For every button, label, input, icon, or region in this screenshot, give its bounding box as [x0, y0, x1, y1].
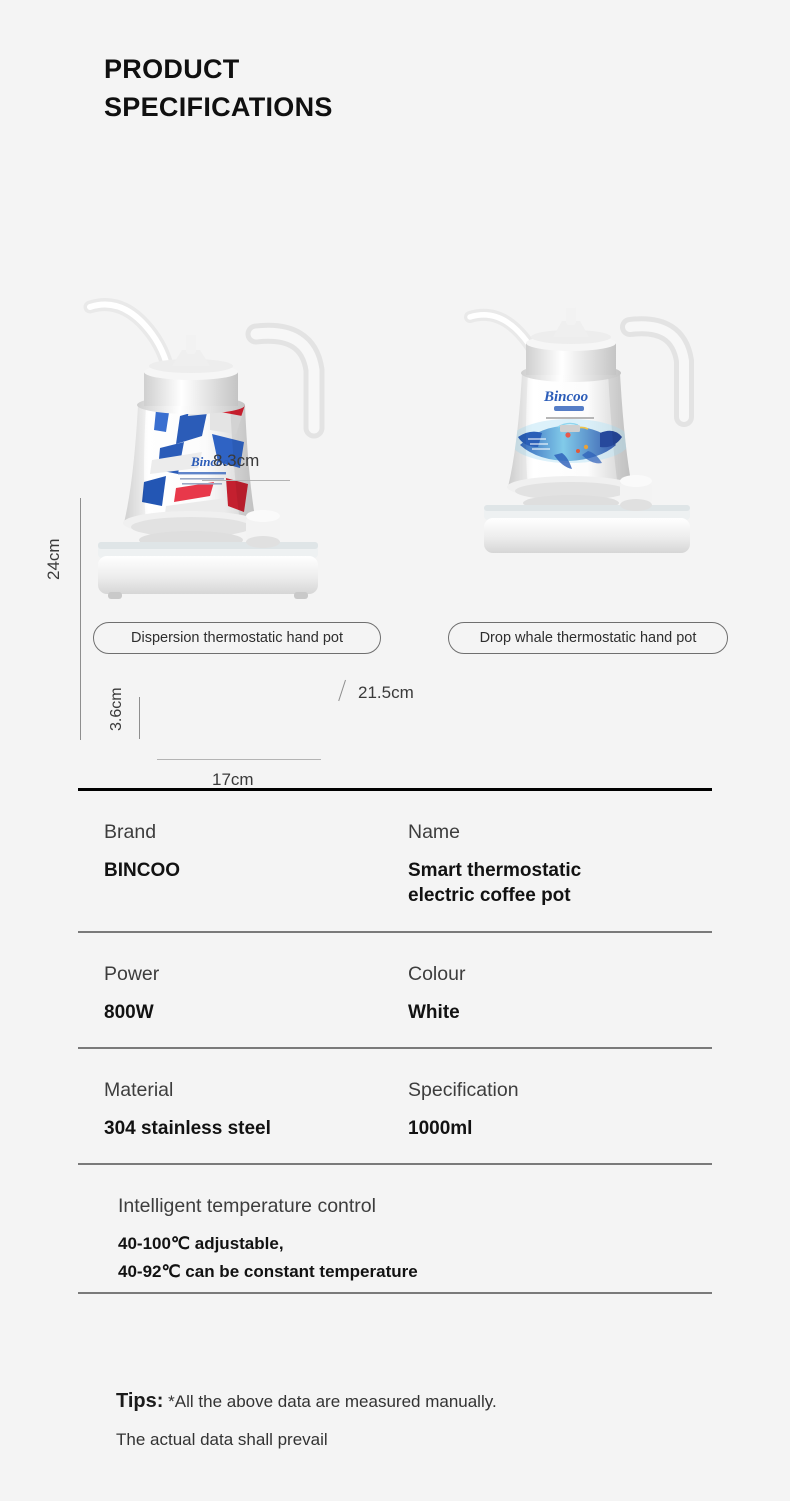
spec-value: Smart thermostatic electric coffee pot: [408, 858, 712, 908]
tips-label: Tips:: [116, 1390, 163, 1412]
table-bottom-divider: [78, 1292, 712, 1294]
spec-cell-material: Material 304 stainless steel: [104, 1079, 408, 1141]
spec-value-line-1: Smart thermostatic: [408, 860, 581, 881]
spec-cell-brand: Brand BINCOO: [104, 821, 408, 909]
caption-pill-drop-whale-label: Drop whale thermostatic hand pot: [480, 630, 697, 646]
spec-value: 304 stainless steel: [104, 1116, 408, 1141]
caption-pill-dispersion[interactable]: Dispersion thermostatic hand pot: [93, 622, 381, 654]
caption-pill-dispersion-label: Dispersion thermostatic hand pot: [131, 630, 343, 646]
page-title-line-1: PRODUCT: [104, 50, 333, 88]
spec-value-line-1: 40-100℃ adjustable,: [118, 1234, 284, 1253]
kettle-b-logo: Bincoo: [543, 389, 588, 405]
table-row: Brand BINCOO Name Smart thermostatic ele…: [78, 791, 712, 931]
page-title-line-2: SPECIFICATIONS: [104, 88, 333, 126]
dimension-width-label: 8.3cm: [213, 451, 259, 471]
spec-key: Colour: [408, 963, 712, 986]
table-row: Power 800W Colour White: [78, 933, 712, 1047]
spec-key: Intelligent temperature control: [118, 1195, 712, 1218]
tips-line-1: *All the above data are measured manuall…: [168, 1392, 497, 1411]
spec-key: Power: [104, 963, 408, 986]
tips-section: Tips: *All the above data are measured m…: [116, 1390, 716, 1450]
spec-value: 800W: [104, 1000, 408, 1025]
specifications-table: Brand BINCOO Name Smart thermostatic ele…: [78, 788, 712, 1294]
spec-key: Name: [408, 821, 712, 844]
dimension-width-rule: [202, 480, 290, 481]
spec-value: 1000ml: [408, 1116, 712, 1141]
kettle-drop-whale-image: Bincoo: [450, 255, 740, 555]
spec-cell-colour: Colour White: [408, 963, 712, 1025]
dimension-base-height-rule: [139, 697, 140, 739]
dimension-bottom-width-label: 17cm: [212, 770, 254, 790]
spec-cell-specification: Specification 1000ml: [408, 1079, 712, 1141]
spec-value: White: [408, 1000, 712, 1025]
spec-value: 40-100℃ adjustable, 40-92℃ can be consta…: [118, 1230, 712, 1285]
page-title: PRODUCT SPECIFICATIONS: [104, 50, 333, 127]
spec-key: Brand: [104, 821, 408, 844]
dimension-depth-label: 21.5cm: [358, 683, 414, 703]
dimension-height-label: 24cm: [44, 538, 64, 580]
table-row: Material 304 stainless steel Specificati…: [78, 1049, 712, 1163]
spec-cell-temperature-control: Intelligent temperature control 40-100℃ …: [78, 1165, 712, 1291]
dimension-bottom-rule: [157, 759, 321, 760]
caption-pill-drop-whale[interactable]: Drop whale thermostatic hand pot: [448, 622, 728, 654]
spec-cell-power: Power 800W: [104, 963, 408, 1025]
dimension-height-rule: [80, 498, 81, 740]
spec-value: BINCOO: [104, 858, 408, 883]
spec-value-line-2: electric coffee pot: [408, 883, 712, 908]
product-showcase: Bincoo: [0, 210, 790, 670]
spec-value-line-2: 40-92℃ can be constant temperature: [118, 1258, 712, 1286]
kettle-dispersion-image: Bincoo: [60, 230, 390, 610]
dimension-depth-tick: [338, 680, 346, 701]
tips-line-2: The actual data shall prevail: [116, 1430, 716, 1450]
spec-key: Specification: [408, 1079, 712, 1102]
spec-key: Material: [104, 1079, 408, 1102]
tips-first-line: Tips: *All the above data are measured m…: [116, 1390, 716, 1413]
spec-cell-name: Name Smart thermostatic electric coffee …: [408, 821, 712, 909]
dimension-base-height-label: 3.6cm: [108, 687, 126, 731]
